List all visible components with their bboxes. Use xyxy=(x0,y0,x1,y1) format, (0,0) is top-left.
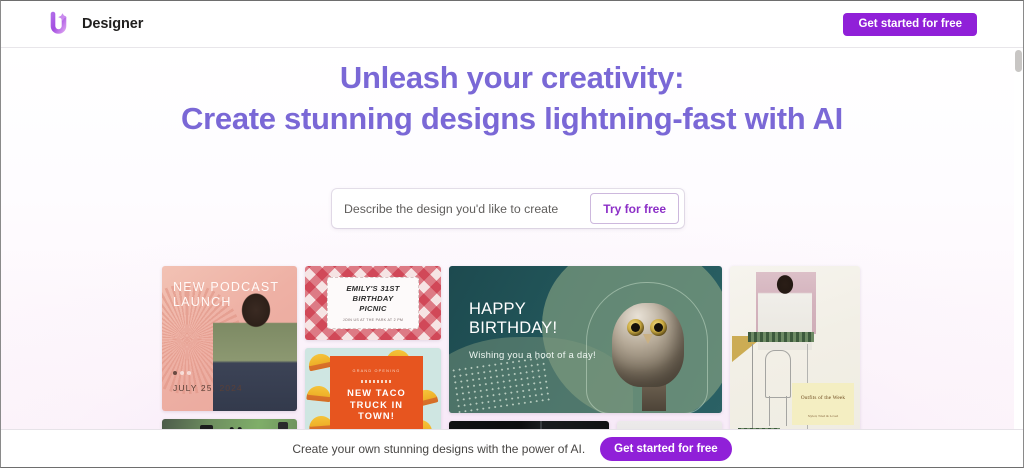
template-card-taco-truck[interactable]: GRAND OPENING NEW TACO TRUCK IN TOWN! xyxy=(305,348,441,438)
page-title: Unleash your creativity: Create stunning… xyxy=(1,57,1023,139)
taco-card-panel: GRAND OPENING NEW TACO TRUCK IN TOWN! xyxy=(330,356,423,438)
app-header: Designer Get started for free xyxy=(1,1,1023,48)
headline-line-2: Create stunning designs lightning-fast w… xyxy=(1,98,1023,139)
taco-icon xyxy=(306,385,331,402)
gingham-label-plate: EMILY'S 31ST BIRTHDAY PICNIC JOIN US AT … xyxy=(327,277,419,329)
prompt-bar: Try for free xyxy=(332,189,684,228)
podcast-dots-decoration-icon xyxy=(173,371,191,375)
owl-beak xyxy=(643,334,653,344)
outfit-card-title: Outfits of the Week xyxy=(801,395,845,401)
owl-photo xyxy=(606,287,698,411)
washi-tape-decoration-icon xyxy=(748,332,814,342)
designer-app-window: Designer Get started for free Unleash yo… xyxy=(0,0,1024,468)
outfit-label: Outfits of the Week Styled, Tried & Love… xyxy=(792,383,854,425)
header-get-started-button[interactable]: Get started for free xyxy=(843,13,977,36)
owl-body xyxy=(612,303,684,387)
taco-divider xyxy=(361,380,393,383)
gingham-card-subtitle: JOIN US AT THE PARK AT 2 PM xyxy=(343,318,403,322)
outfit-card-subtitle: Styled, Tried & Loved xyxy=(808,414,839,418)
designer-magnet-logo-icon xyxy=(43,9,73,39)
owl-eye xyxy=(627,319,644,336)
brand[interactable]: Designer xyxy=(43,9,143,39)
scrollbar-thumb[interactable] xyxy=(1015,50,1022,72)
owl-card-subtitle: Wishing you a hoot of a day! xyxy=(469,350,596,361)
gingham-card-title: EMILY'S 31ST BIRTHDAY PICNIC xyxy=(346,284,399,315)
bottom-get-started-button[interactable]: Get started for free xyxy=(600,437,732,461)
taco-card-title: NEW TACO TRUCK IN TOWN! xyxy=(330,388,423,423)
owl-card-title: HAPPY BIRTHDAY! xyxy=(469,300,557,339)
prompt-input[interactable] xyxy=(332,202,590,216)
taco-card-pretitle: GRAND OPENING xyxy=(330,369,423,373)
page-scrollbar[interactable] xyxy=(1014,48,1023,468)
gallery-column-2: EMILY'S 31ST BIRTHDAY PICNIC JOIN US AT … xyxy=(305,266,441,438)
page-canvas: Unleash your creativity: Create stunning… xyxy=(1,48,1023,468)
podcast-card-title: NEW PODCAST LAUNCH xyxy=(173,280,279,311)
bottom-bar-text: Create your own stunning designs with th… xyxy=(292,442,585,456)
template-card-podcast[interactable]: NEW PODCAST LAUNCH JULY 25, 2024 xyxy=(162,266,297,411)
template-card-birthday-picnic[interactable]: EMILY'S 31ST BIRTHDAY PICNIC JOIN US AT … xyxy=(305,266,441,340)
try-for-free-button[interactable]: Try for free xyxy=(590,193,679,224)
template-card-outfits[interactable]: Outfits of the Week Styled, Tried & Love… xyxy=(730,266,860,443)
headline-line-1: Unleash your creativity: xyxy=(1,57,1023,98)
gallery-column-4: Outfits of the Week Styled, Tried & Love… xyxy=(730,266,860,443)
template-card-owl-birthday[interactable]: HAPPY BIRTHDAY! Wishing you a hoot of a … xyxy=(449,266,722,413)
podcast-card-date: JULY 25, 2024 xyxy=(173,383,243,393)
brand-name: Designer xyxy=(82,16,143,32)
bottom-cta-bar: Create your own stunning designs with th… xyxy=(1,429,1023,467)
